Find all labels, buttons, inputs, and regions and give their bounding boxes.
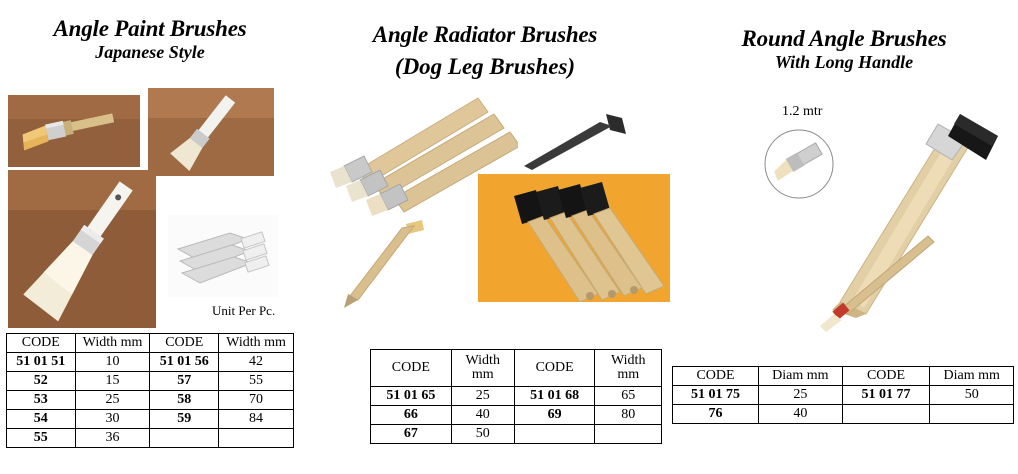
section-angle-radiator-brushes: Angle Radiator Brushes (Dog Leg Brushes) <box>300 0 670 474</box>
cell-width: 65 <box>595 387 662 406</box>
photo-thin-black-brush <box>518 108 638 178</box>
table-row: 66 40 69 80 <box>371 406 662 425</box>
table-row: 76 40 <box>673 405 1014 424</box>
col-code-1: CODE <box>7 334 76 353</box>
cell-code: 76 <box>673 405 759 424</box>
title-line-1: Angle Radiator Brushes <box>300 22 670 48</box>
title-line-1: Angle Paint Brushes <box>0 16 300 42</box>
table-row: 67 50 <box>371 425 662 444</box>
table-angle-paint-brushes: CODE Width mm CODE Width mm 51 01 51 10 … <box>6 333 294 448</box>
table-angle-radiator-brushes: CODE Widthmm CODE Widthmm 51 01 65 25 51… <box>370 349 662 444</box>
col-code-2: CODE <box>514 350 595 387</box>
cell-code: 51 01 56 <box>150 353 219 372</box>
cell-code: 67 <box>371 425 452 444</box>
cell-width: 25 <box>451 387 514 406</box>
photo-ferrule-set <box>168 215 278 297</box>
cell-code: 52 <box>7 372 76 391</box>
photo-angle-paint-brush-1 <box>8 95 140 167</box>
cell-code: 57 <box>150 372 219 391</box>
col-code-1: CODE <box>673 367 759 386</box>
section-angle-paint-brushes: Angle Paint Brushes Japanese Style <box>0 0 300 474</box>
cell-code: 69 <box>514 406 595 425</box>
cell-width <box>219 429 294 448</box>
table-row: 52 15 57 55 <box>7 372 294 391</box>
photo-long-thin-brush <box>336 216 456 308</box>
cell-diam <box>930 405 1014 424</box>
cell-diam: 25 <box>759 386 843 405</box>
cell-width: 55 <box>219 372 294 391</box>
cell-code: 53 <box>7 391 76 410</box>
col-code-2: CODE <box>842 367 930 386</box>
title-line-2: With Long Handle <box>670 52 1018 72</box>
cell-width: 70 <box>219 391 294 410</box>
table-row: 51 01 51 10 51 01 56 42 <box>7 353 294 372</box>
col-width-2: Width mm <box>219 334 294 353</box>
photo-small-thin-brush <box>818 232 938 332</box>
table-round-angle-brushes: CODE Diam mm CODE Diam mm 51 01 75 25 51… <box>672 366 1014 424</box>
col-diam-1: Diam mm <box>759 367 843 386</box>
col-width-1: Widthmm <box>451 350 514 387</box>
section-title: Angle Paint Brushes Japanese Style <box>0 16 300 62</box>
photo-angle-paint-brush-2 <box>148 88 274 176</box>
col-diam-2: Diam mm <box>930 367 1014 386</box>
cell-code <box>150 429 219 448</box>
title-line-1: Round Angle Brushes <box>670 26 1018 52</box>
table-header-row: CODE Widthmm CODE Widthmm <box>371 350 662 387</box>
table-row: 51 01 65 25 51 01 68 65 <box>371 387 662 406</box>
cell-code: 54 <box>7 410 76 429</box>
cell-width: 80 <box>595 406 662 425</box>
cell-code: 51 01 75 <box>673 386 759 405</box>
cell-code: 51 01 65 <box>371 387 452 406</box>
table-row: 51 01 75 25 51 01 77 50 <box>673 386 1014 405</box>
cell-code: 59 <box>150 410 219 429</box>
cell-code: 55 <box>7 429 76 448</box>
cell-code: 51 01 68 <box>514 387 595 406</box>
cell-width: 30 <box>75 410 150 429</box>
cell-width: 42 <box>219 353 294 372</box>
cell-diam: 50 <box>930 386 1014 405</box>
table-header-row: CODE Diam mm CODE Diam mm <box>673 367 1014 386</box>
cell-width: 84 <box>219 410 294 429</box>
section-round-angle-brushes: Round Angle Brushes With Long Handle 1.2… <box>670 0 1018 474</box>
col-code-1: CODE <box>371 350 452 387</box>
photo-radiator-brushes-orange <box>478 174 670 302</box>
table-row: 53 25 58 70 <box>7 391 294 410</box>
cell-width <box>595 425 662 444</box>
table-header-row: CODE Width mm CODE Width mm <box>7 334 294 353</box>
col-width-1: Width mm <box>75 334 150 353</box>
cell-code <box>842 405 930 424</box>
cell-width: 15 <box>75 372 150 391</box>
col-width-2: Widthmm <box>595 350 662 387</box>
cell-diam: 40 <box>759 405 843 424</box>
section-title: Angle Radiator Brushes (Dog Leg Brushes) <box>300 22 670 80</box>
length-label: 1.2 mtr <box>782 104 822 120</box>
cell-code <box>514 425 595 444</box>
cell-width: 40 <box>451 406 514 425</box>
section-title: Round Angle Brushes With Long Handle <box>670 26 1018 72</box>
photo-angle-paint-brush-3 <box>8 170 156 328</box>
cell-width: 36 <box>75 429 150 448</box>
cell-code: 51 01 51 <box>7 353 76 372</box>
cell-width: 25 <box>75 391 150 410</box>
title-line-2: (Dog Leg Brushes) <box>300 54 670 80</box>
title-line-2: Japanese Style <box>0 42 300 62</box>
unit-note: Unit Per Pc. <box>212 303 275 319</box>
table-row: 54 30 59 84 <box>7 410 294 429</box>
table-row: 55 36 <box>7 429 294 448</box>
cell-code: 51 01 77 <box>842 386 930 405</box>
cell-width: 50 <box>451 425 514 444</box>
cell-code: 66 <box>371 406 452 425</box>
cell-width: 10 <box>75 353 150 372</box>
cell-code: 58 <box>150 391 219 410</box>
col-code-2: CODE <box>150 334 219 353</box>
